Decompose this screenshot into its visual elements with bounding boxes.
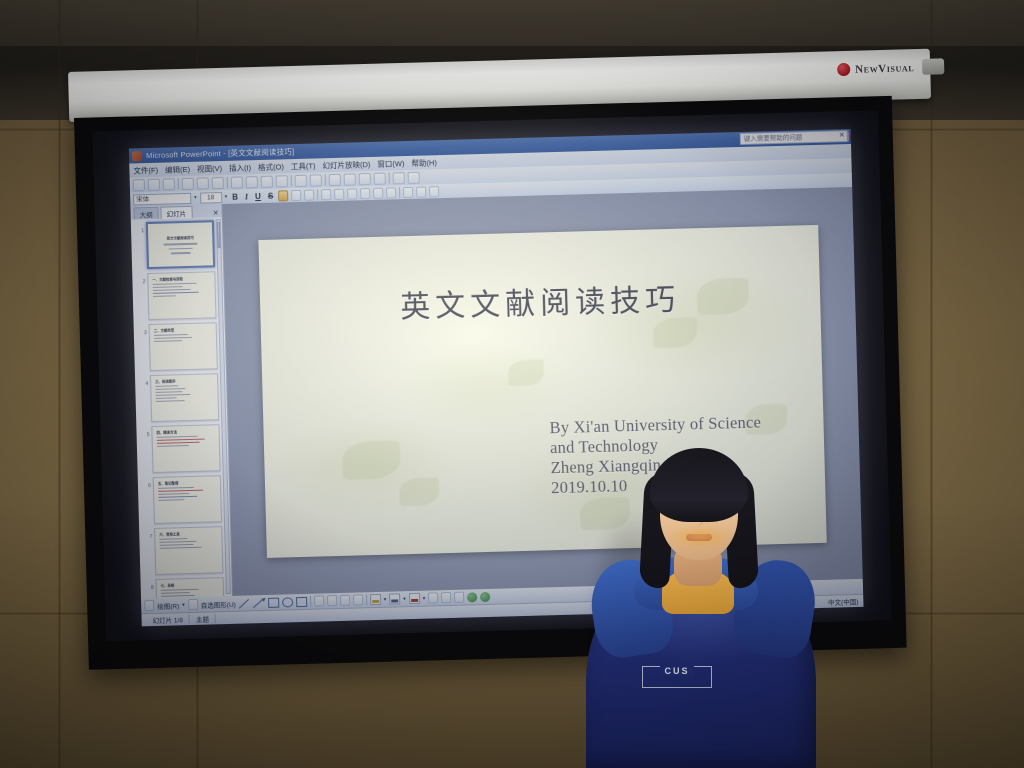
- list-item[interactable]: 7 六、常用工具: [147, 526, 229, 575]
- thumbnail-title: 二、文献类型: [154, 326, 212, 333]
- thumbnail-number: 4: [143, 375, 148, 387]
- chevron-down-icon[interactable]: ▾: [403, 596, 406, 602]
- list-item[interactable]: 8 七、总结: [149, 577, 231, 598]
- toolbar-separator: [389, 172, 390, 183]
- toolbar-separator: [291, 175, 292, 186]
- oval-icon[interactable]: [282, 597, 293, 607]
- slide-thumbnail-pane[interactable]: 大纲 幻灯片 ✕ 1 英文文献阅读技巧: [130, 204, 233, 598]
- new-slide-icon[interactable]: [429, 186, 439, 197]
- thumbnail-number: 5: [144, 426, 149, 438]
- increase-font-icon[interactable]: [347, 188, 357, 199]
- font-color-icon[interactable]: [403, 186, 413, 197]
- thumbnail-slide-3[interactable]: 二、文献类型: [149, 322, 218, 371]
- powerpoint-icon: [132, 151, 142, 161]
- thumbnail-title: 四、精读方法: [156, 428, 214, 435]
- rectangle-icon[interactable]: [268, 597, 279, 607]
- bold-button[interactable]: B: [230, 192, 240, 201]
- font-name-select[interactable]: 宋体: [133, 192, 191, 205]
- shadow-style-icon[interactable]: [467, 592, 477, 602]
- thumbnail-slide-4[interactable]: 三、阅读顺序: [150, 373, 219, 422]
- italic-button[interactable]: I: [243, 192, 250, 201]
- align-left-icon[interactable]: [278, 190, 288, 201]
- menu-item-window[interactable]: 窗口(W): [377, 158, 404, 170]
- toolbar-separator: [325, 174, 326, 185]
- decorative-leaf: [508, 360, 545, 387]
- thumbnail-title: 英文文献阅读技巧: [167, 235, 194, 241]
- scrollbar-thumb[interactable]: [217, 222, 221, 248]
- draw-menu-label[interactable]: 绘图(R): [157, 600, 179, 611]
- bullets-icon[interactable]: [334, 188, 344, 199]
- picture-icon[interactable]: [353, 594, 363, 605]
- design-template-name: 主题: [190, 613, 216, 624]
- font-color-icon[interactable]: [409, 593, 420, 604]
- design-icon[interactable]: [416, 186, 426, 197]
- thumbnail-number: 1: [139, 222, 144, 234]
- list-item[interactable]: 5 四、精读方法: [144, 424, 226, 473]
- help-placeholder: 键入需要帮助的问题: [744, 134, 803, 143]
- thumbnail-slide-2[interactable]: 一、文献检索与获取: [147, 271, 216, 320]
- toolbar-separator: [317, 189, 318, 200]
- toolbar-separator: [310, 596, 311, 607]
- toolbar-separator: [399, 187, 400, 198]
- align-center-icon[interactable]: [291, 189, 301, 200]
- close-icon[interactable]: ✕: [839, 131, 845, 141]
- undo-icon[interactable]: [295, 174, 307, 186]
- numbering-icon[interactable]: [321, 189, 331, 200]
- clipart-icon[interactable]: [340, 595, 350, 606]
- menu-item-file[interactable]: 文件(F): [133, 164, 158, 176]
- decrease-font-icon[interactable]: [360, 188, 370, 199]
- increase-indent-icon[interactable]: [386, 187, 396, 198]
- menu-item-slideshow[interactable]: 幻灯片放映(D): [322, 159, 370, 171]
- paste-icon[interactable]: [261, 175, 273, 187]
- cut-icon[interactable]: [231, 176, 243, 188]
- font-size-select[interactable]: 18: [200, 192, 222, 204]
- line-color-icon[interactable]: [389, 593, 400, 604]
- chevron-down-icon[interactable]: ▾: [194, 195, 197, 201]
- wordart-icon[interactable]: [314, 595, 324, 606]
- decorative-leaf: [399, 477, 440, 506]
- menu-item-help[interactable]: 帮助(H): [411, 157, 437, 169]
- thumbnail-number: 8: [149, 579, 154, 591]
- 3d-style-icon[interactable]: [480, 591, 490, 601]
- list-item[interactable]: 4 三、阅读顺序: [143, 373, 225, 422]
- line-style-icon[interactable]: [428, 592, 438, 603]
- screen-brand: NewVisual: [837, 61, 914, 76]
- wall-seam: [58, 0, 61, 768]
- thumbnail-number: 3: [142, 324, 147, 336]
- menu-item-view[interactable]: 视图(V): [197, 163, 222, 175]
- list-item[interactable]: 1 英文文献阅读技巧: [139, 220, 221, 269]
- thumbnail-list[interactable]: 1 英文文献阅读技巧: [131, 217, 232, 598]
- autoshapes-label[interactable]: 自选图形(U): [201, 598, 236, 609]
- chevron-down-icon[interactable]: ▾: [423, 595, 426, 601]
- hoodie-logo-text: CUS: [660, 666, 693, 676]
- thumbnail-number: 2: [140, 273, 145, 285]
- thumbnail-number: 6: [146, 477, 151, 489]
- close-pane-icon[interactable]: ✕: [213, 209, 219, 217]
- newvisual-logo-icon: [837, 63, 850, 76]
- thumbnail-title: 一、文献检索与获取: [152, 275, 210, 282]
- zoom-icon[interactable]: [393, 172, 405, 184]
- thumbnail-slide-1[interactable]: 英文文献阅读技巧: [146, 220, 215, 269]
- line-icon[interactable]: [239, 598, 250, 608]
- hair-top: [650, 448, 748, 522]
- wall-seam: [930, 0, 933, 768]
- tab-slides[interactable]: 幻灯片: [160, 206, 192, 219]
- spelling-icon[interactable]: [212, 176, 224, 188]
- menu-item-tools[interactable]: 工具(T): [291, 160, 316, 172]
- list-item[interactable]: 6 五、笔记整理: [146, 475, 228, 524]
- housing-end-cap: [922, 58, 944, 75]
- menu-item-format[interactable]: 格式(O): [258, 161, 284, 173]
- brand-name-label: NewVisual: [855, 62, 914, 76]
- new-icon[interactable]: [133, 179, 145, 191]
- thumbnail-title: 六、常用工具: [159, 530, 217, 537]
- thumbnail-slide-8[interactable]: 七、总结: [155, 577, 224, 598]
- chevron-down-icon[interactable]: ▾: [384, 596, 387, 602]
- toolbar-separator: [366, 594, 367, 605]
- toolbar-separator: [178, 178, 179, 189]
- slide-title-text[interactable]: 英文文献阅读技巧: [260, 271, 821, 330]
- decrease-indent-icon[interactable]: [373, 187, 383, 198]
- list-item[interactable]: 3 二、文献类型: [142, 322, 224, 371]
- chevron-down-icon[interactable]: ▾: [225, 194, 228, 200]
- hyperlink-icon[interactable]: [359, 172, 371, 184]
- shadow-button[interactable]: S: [266, 191, 276, 200]
- insert-chart-icon[interactable]: [344, 173, 356, 185]
- ceiling-upper-band: [0, 0, 1024, 46]
- slide-counter: 幻灯片 1/8: [146, 614, 190, 625]
- diagram-icon[interactable]: [327, 595, 337, 606]
- open-icon[interactable]: [148, 178, 160, 190]
- hoodie-logo: CUS: [642, 666, 712, 688]
- arrow-style-icon[interactable]: [454, 592, 464, 603]
- copy-icon[interactable]: [246, 176, 258, 188]
- toolbar-separator: [227, 177, 228, 188]
- list-item[interactable]: 2 一、文献检索与获取: [140, 271, 222, 320]
- print-icon[interactable]: [182, 177, 194, 189]
- thumbnail-number: 7: [147, 528, 152, 540]
- dash-style-icon[interactable]: [441, 592, 451, 603]
- presenter: CUS: [586, 452, 816, 768]
- arrow-icon[interactable]: [253, 598, 265, 608]
- help-icon[interactable]: [408, 171, 420, 183]
- insert-table-icon[interactable]: [329, 173, 341, 185]
- menu-item-insert[interactable]: 插入(I): [229, 162, 251, 174]
- save-icon[interactable]: [163, 178, 175, 190]
- tab-outline[interactable]: 大纲: [133, 207, 158, 220]
- print-preview-icon[interactable]: [197, 177, 209, 189]
- thumbnail-slide-5[interactable]: 四、精读方法: [151, 424, 220, 473]
- face-highlight: [658, 522, 742, 552]
- thumbnail-title: 三、阅读顺序: [155, 377, 213, 384]
- thumbnail-title: 五、笔记整理: [158, 479, 216, 486]
- thumbnail-slide-6[interactable]: 五、笔记整理: [153, 475, 222, 524]
- redo-icon[interactable]: [310, 174, 322, 186]
- format-painter-icon[interactable]: [276, 175, 288, 187]
- align-right-icon[interactable]: [304, 189, 314, 200]
- chevron-down-icon[interactable]: ▾: [182, 602, 185, 608]
- draw-menu-icon[interactable]: [144, 600, 154, 611]
- fill-color-icon[interactable]: [370, 594, 381, 605]
- thumbnail-slide-7[interactable]: 六、常用工具: [154, 526, 223, 575]
- language-indicator: 中文(中国): [828, 596, 859, 607]
- underline-button[interactable]: U: [253, 191, 263, 200]
- select-objects-icon[interactable]: [188, 599, 198, 610]
- thumbnail-title: 七、总结: [161, 581, 219, 588]
- show-formatting-icon[interactable]: [374, 172, 386, 184]
- menu-item-edit[interactable]: 编辑(E): [165, 163, 190, 175]
- decorative-leaf: [653, 317, 698, 348]
- decorative-leaf: [342, 440, 401, 480]
- classroom-scene: NewVisual Microsoft PowerPoint - [英文文献阅读…: [0, 0, 1024, 768]
- textbox-icon[interactable]: [296, 596, 307, 606]
